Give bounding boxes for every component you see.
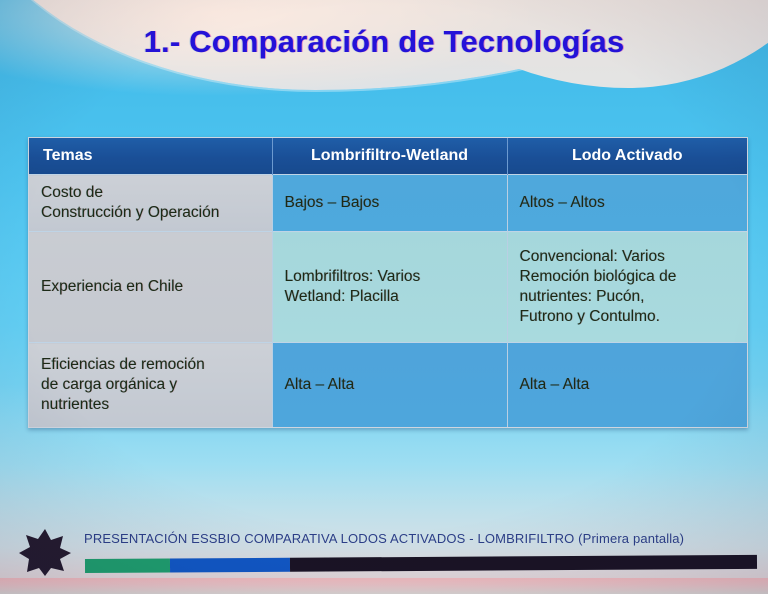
- cell-tema-eficiencias: Eficiencias de remociónde carga orgánica…: [29, 343, 272, 428]
- table-row: Eficiencias de remociónde carga orgánica…: [29, 343, 747, 428]
- cell-lodo-costo: Altos – Altos: [507, 175, 747, 232]
- table-row: Experiencia en Chile Lombrifiltros: Vari…: [29, 232, 747, 343]
- accent-segment-green: [85, 558, 170, 573]
- accent-segment-blue: [170, 558, 290, 573]
- cell-lombrifiltro-experiencia: Lombrifiltros: VariosWetland: Placilla: [272, 232, 507, 343]
- footer-caption: PRESENTACIÓN ESSBIO COMPARATIVA LODOS AC…: [84, 531, 684, 546]
- table-row: Costo deConstrucción y Operación Bajos –…: [29, 175, 747, 232]
- presentation-slide: 1.- Comparación de Tecnologías Temas Lom…: [0, 0, 768, 594]
- cell-lombrifiltro-eficiencias: Alta – Alta: [272, 343, 507, 428]
- column-header-temas: Temas: [29, 138, 272, 175]
- cell-tema-costo: Costo deConstrucción y Operación: [29, 175, 272, 232]
- bottom-edge-strip: [0, 578, 768, 594]
- column-header-lodo-activado: Lodo Activado: [507, 138, 747, 175]
- column-header-lombrifiltro-wetland: Lombrifiltro-Wetland: [272, 138, 507, 175]
- cell-tema-experiencia: Experiencia en Chile: [29, 232, 272, 343]
- cell-lombrifiltro-costo: Bajos – Bajos: [272, 175, 507, 232]
- cell-lodo-eficiencias: Alta – Alta: [507, 343, 747, 428]
- table-header-row: Temas Lombrifiltro-Wetland Lodo Activado: [29, 138, 747, 175]
- star-burst-icon: [18, 527, 72, 577]
- comparison-table: Temas Lombrifiltro-Wetland Lodo Activado…: [28, 137, 748, 428]
- slide-title: 1.- Comparación de Tecnologías: [0, 24, 768, 60]
- accent-segment-dark: [290, 555, 757, 572]
- cell-lodo-experiencia: Convencional: VariosRemoción biológica d…: [507, 232, 747, 343]
